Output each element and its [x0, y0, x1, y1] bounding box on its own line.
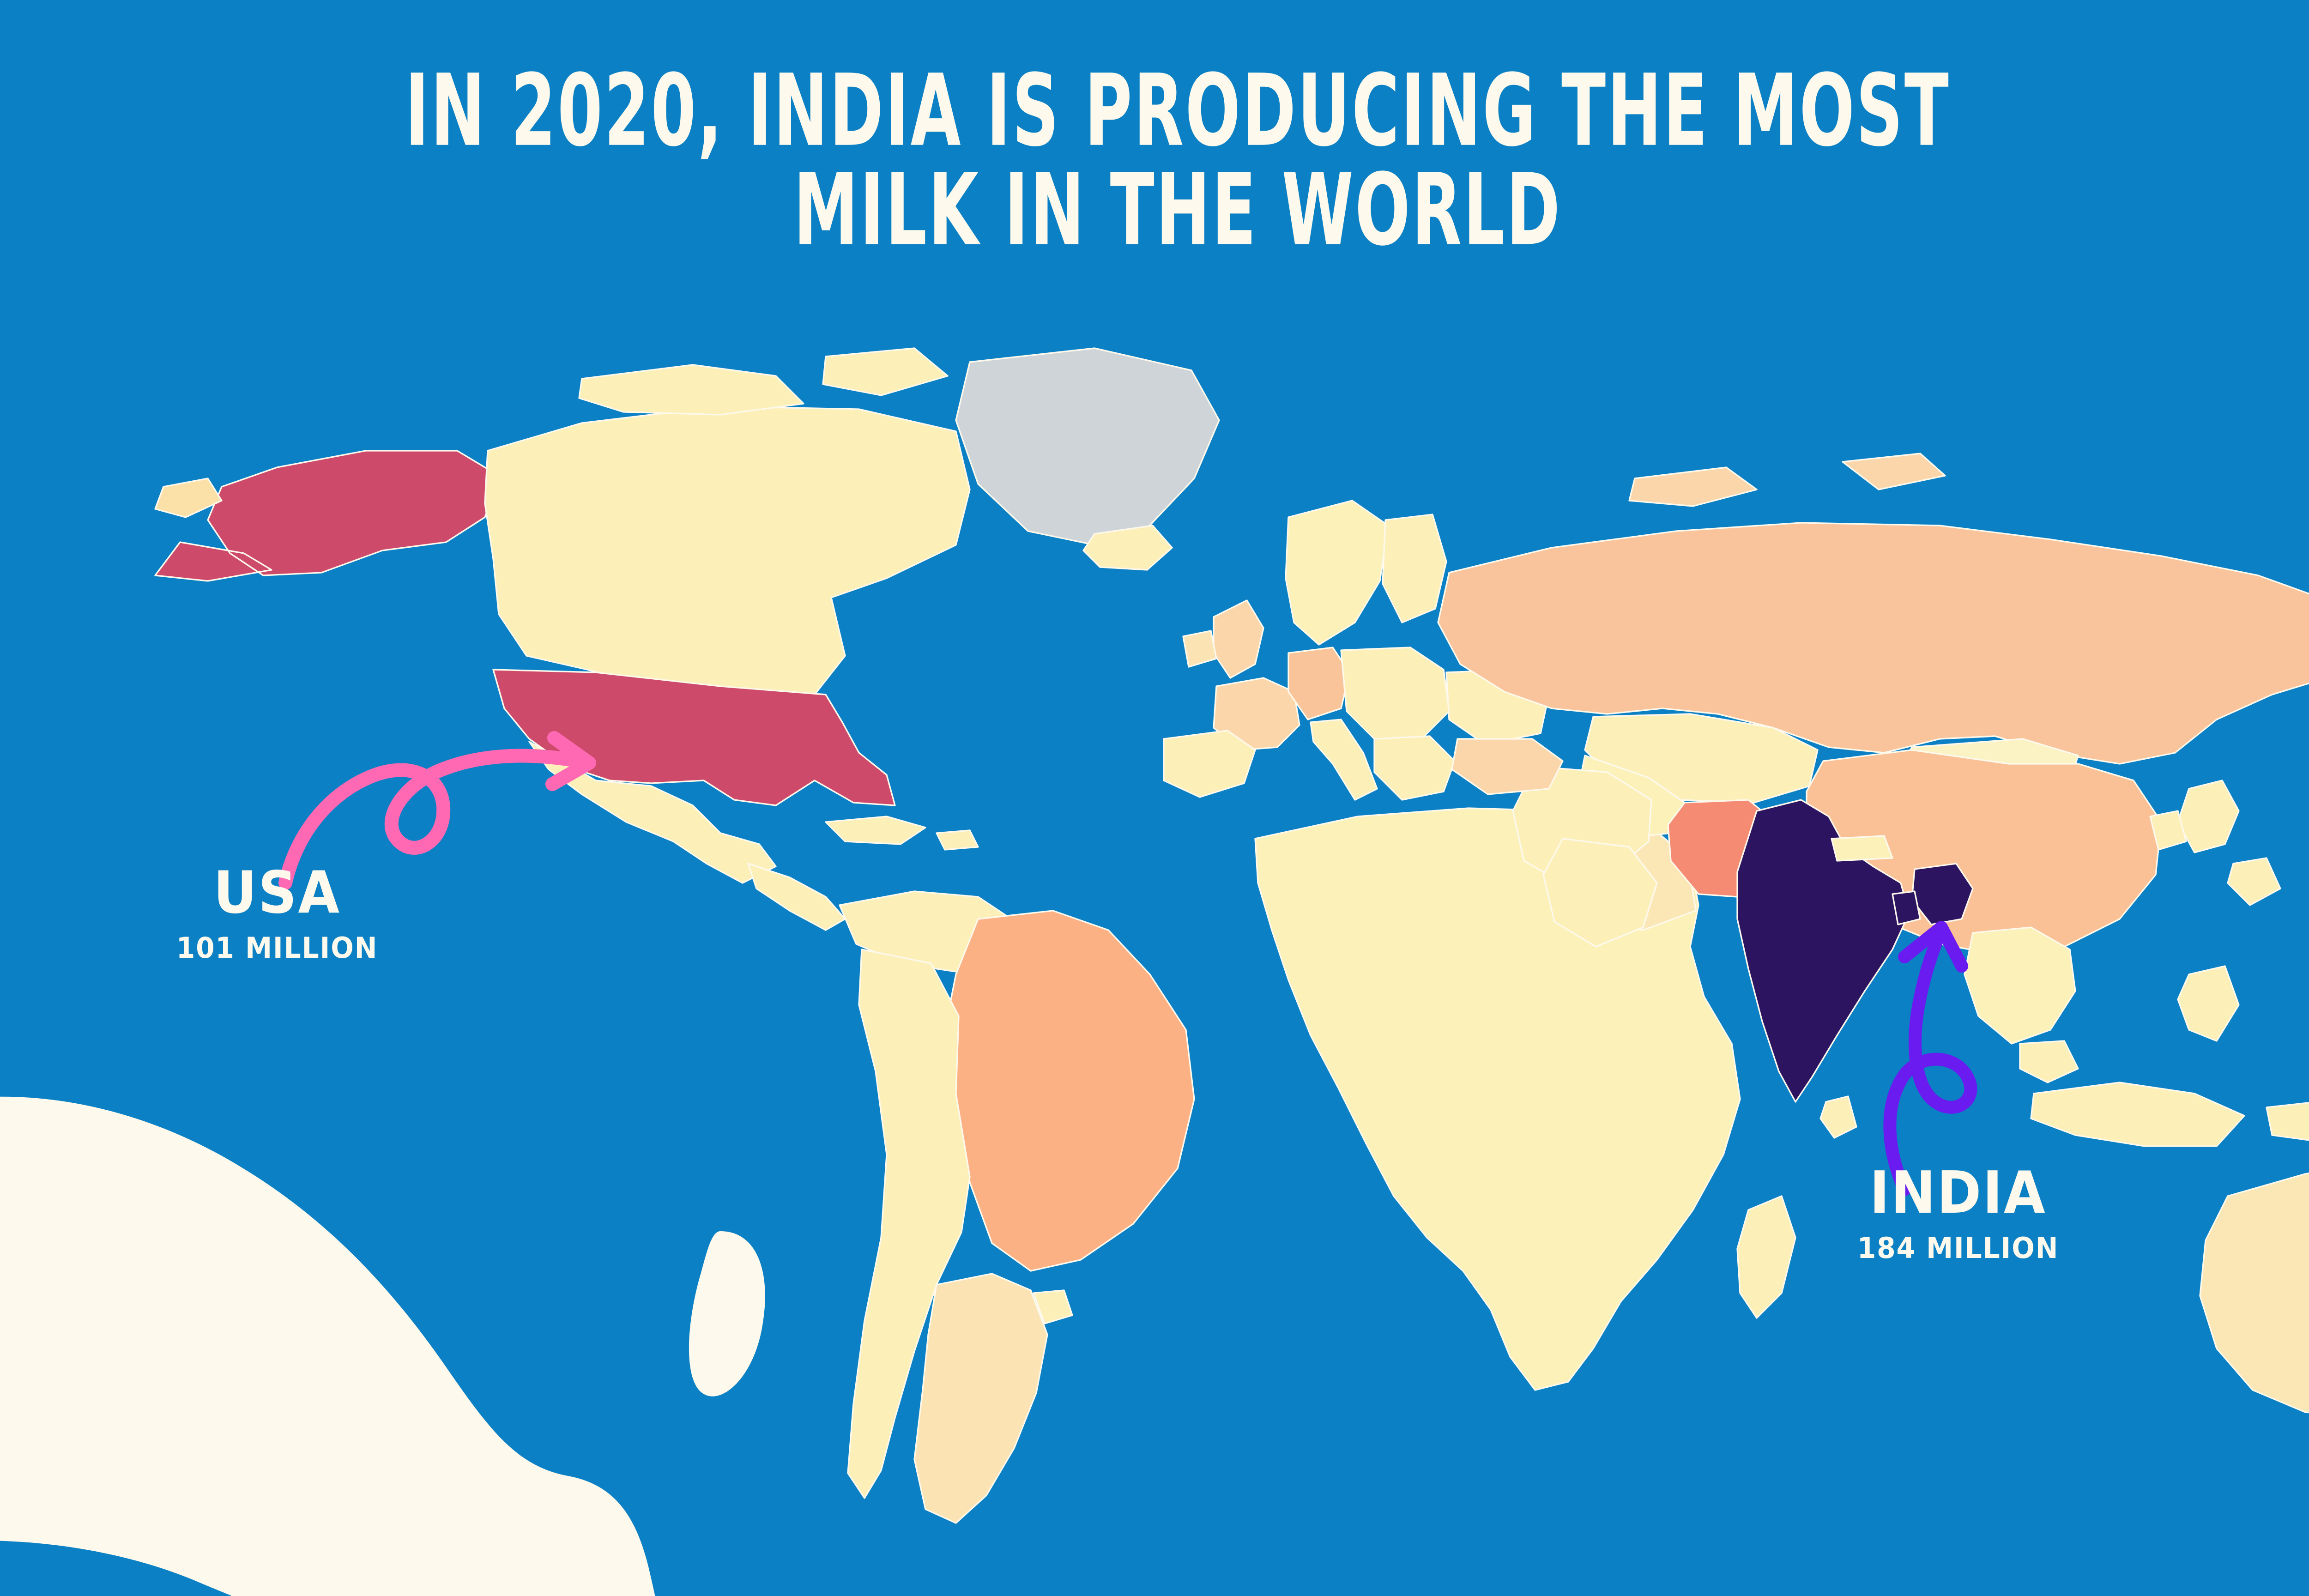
country-caribbean	[826, 816, 978, 850]
country-canada-arctic	[579, 348, 948, 415]
country-uk	[1214, 600, 1263, 678]
title-line-2: MILK IN THE WORLD	[236, 150, 2120, 271]
country-alaska	[155, 451, 499, 581]
infographic-canvas: IN 2020, INDIA IS PRODUCING THE MOST MIL…	[0, 0, 2309, 1596]
country-australia	[2200, 1152, 2309, 1418]
country-sri-lanka	[1820, 1096, 1856, 1138]
page-title: IN 2020, INDIA IS PRODUCING THE MOST MIL…	[0, 51, 2309, 249]
country-southeast-asia	[1964, 927, 2075, 1044]
country-japan	[2178, 780, 2280, 905]
callout-india-value: 184 MILLION	[1763, 1234, 2153, 1263]
callout-usa-value: 101 MILLION	[125, 934, 429, 962]
callout-usa-name: USA	[128, 864, 426, 922]
country-usa	[493, 670, 895, 805]
callout-india-name: INDIA	[1767, 1164, 2149, 1222]
country-nepal	[1831, 836, 1892, 861]
country-canada	[485, 406, 970, 700]
country-germany	[1288, 647, 1349, 719]
country-scandinavia	[1286, 501, 1388, 645]
country-iberia	[1164, 731, 1255, 797]
country-turkey	[1452, 739, 1563, 794]
country-philippines	[2178, 966, 2239, 1041]
callout-usa: USA 101 MILLION	[115, 864, 439, 962]
country-bangladesh	[1892, 891, 1920, 925]
country-ireland	[1183, 631, 1216, 667]
country-poland-eastern-europe	[1341, 647, 1449, 739]
country-russia-arctic-islands	[1629, 453, 1945, 506]
country-russia	[1438, 523, 2309, 764]
country-brazil	[942, 911, 1194, 1271]
country-greenland	[956, 348, 1219, 545]
country-indonesia	[2031, 1082, 2309, 1146]
country-malaysia	[2020, 1041, 2078, 1082]
country-balkans	[1374, 736, 1455, 800]
callout-india: INDIA 184 MILLION	[1750, 1164, 2166, 1263]
country-finland	[1383, 514, 1446, 623]
country-central-america	[748, 864, 845, 930]
country-argentina	[914, 1274, 1047, 1523]
